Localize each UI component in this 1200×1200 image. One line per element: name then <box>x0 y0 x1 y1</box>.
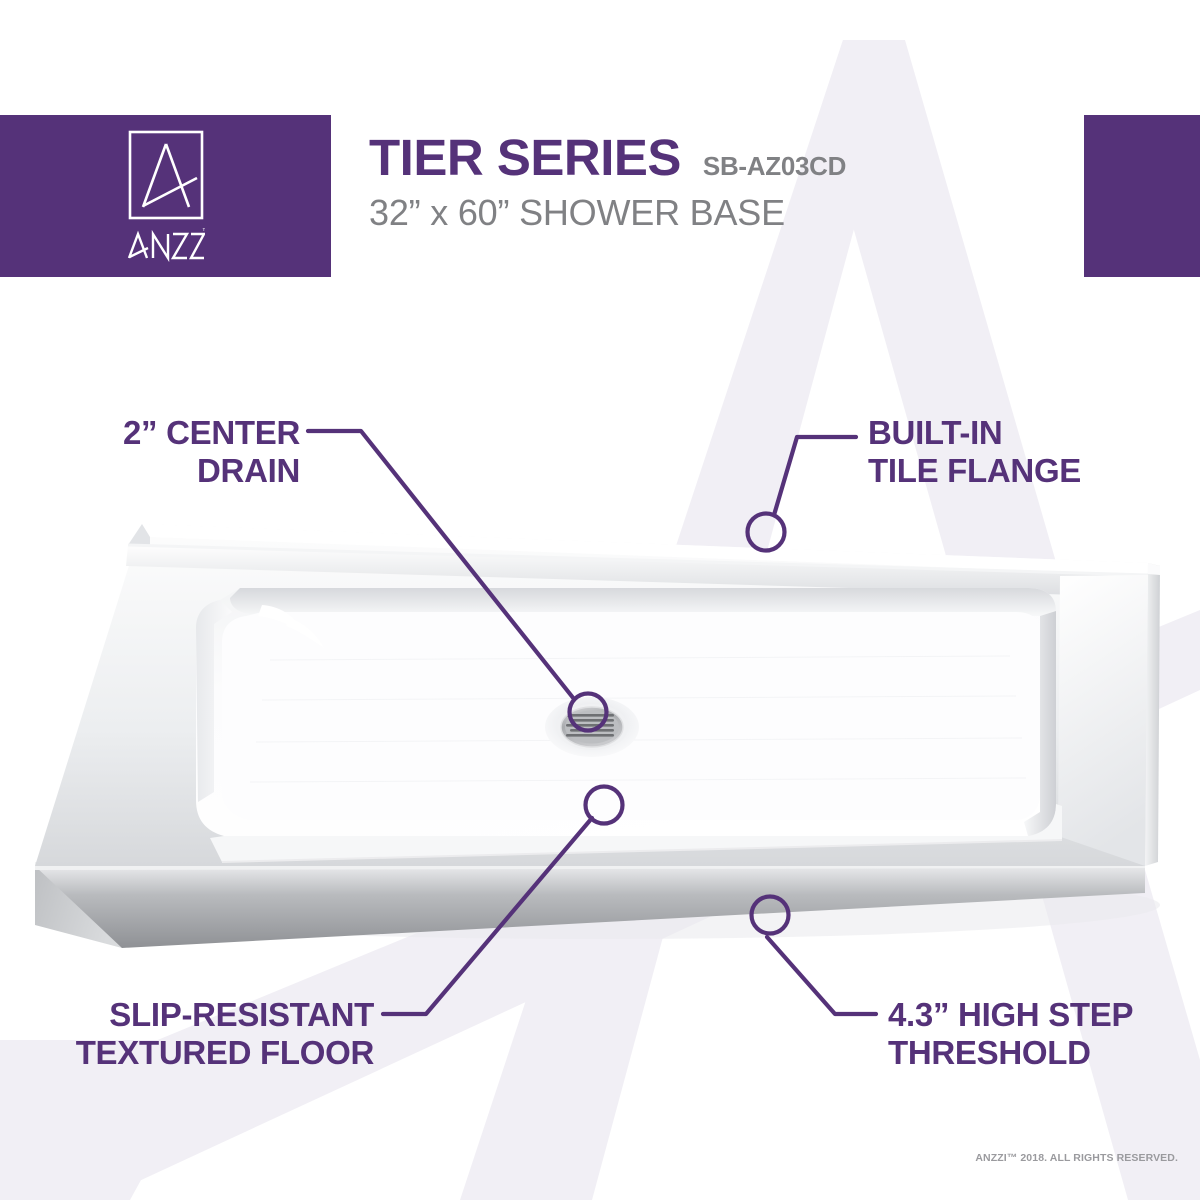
leader-line-textured-floor <box>383 818 592 1014</box>
page-title: TIER SERIES <box>369 132 681 184</box>
callout-line-1: 4.3” HIGH STEP <box>888 996 1133 1034</box>
chrome-drain-grate-icon <box>561 707 623 747</box>
callout-line-1: SLIP-RESISTANT <box>0 996 374 1034</box>
circle-marker-icon-textured-floor <box>586 787 623 824</box>
callout-line-2: DRAIN <box>0 452 300 490</box>
callout-label-step-threshold: 4.3” HIGH STEP THRESHOLD <box>888 996 1133 1073</box>
copyright-notice: ANZZI™ 2018. ALL RIGHTS RESERVED. <box>975 1152 1178 1164</box>
callout-line-1: BUILT-IN <box>868 414 1081 452</box>
brand-logo-block: ™ <box>0 115 331 277</box>
callout-line-2: TILE FLANGE <box>868 452 1081 490</box>
header-corner-accent-block <box>1084 115 1200 277</box>
leader-line-center-drain <box>308 431 574 699</box>
leader-line-tile-flange <box>774 437 856 515</box>
leader-line-step-threshold <box>767 937 876 1014</box>
callout-label-textured-floor: SLIP-RESISTANT TEXTURED FLOOR <box>0 996 374 1073</box>
page-subtitle: 32” x 60” SHOWER BASE <box>369 192 1069 234</box>
callout-label-center-drain: 2” CENTER DRAIN <box>0 414 300 491</box>
trademark-symbol: ™ <box>202 228 205 235</box>
circle-marker-icon-step-threshold <box>752 897 789 934</box>
circle-marker-icon-tile-flange <box>748 514 785 551</box>
callout-label-tile-flange: BUILT-IN TILE FLANGE <box>868 414 1081 491</box>
callout-line-2: TEXTURED FLOOR <box>0 1034 374 1072</box>
model-code: SB-AZ03CD <box>703 151 846 186</box>
infographic-page: ™ TIER SERIES SB-AZ03CD 32” x 60” SHOWER… <box>0 0 1200 1200</box>
callout-line-2: THRESHOLD <box>888 1034 1133 1072</box>
circle-marker-icon-center-drain <box>570 694 607 731</box>
callout-line-1: 2” CENTER <box>0 414 300 452</box>
title-row: TIER SERIES SB-AZ03CD <box>369 132 1069 186</box>
anzzi-a-logo-icon: ™ <box>127 129 205 265</box>
header-title-area: TIER SERIES SB-AZ03CD 32” x 60” SHOWER B… <box>369 132 1069 262</box>
